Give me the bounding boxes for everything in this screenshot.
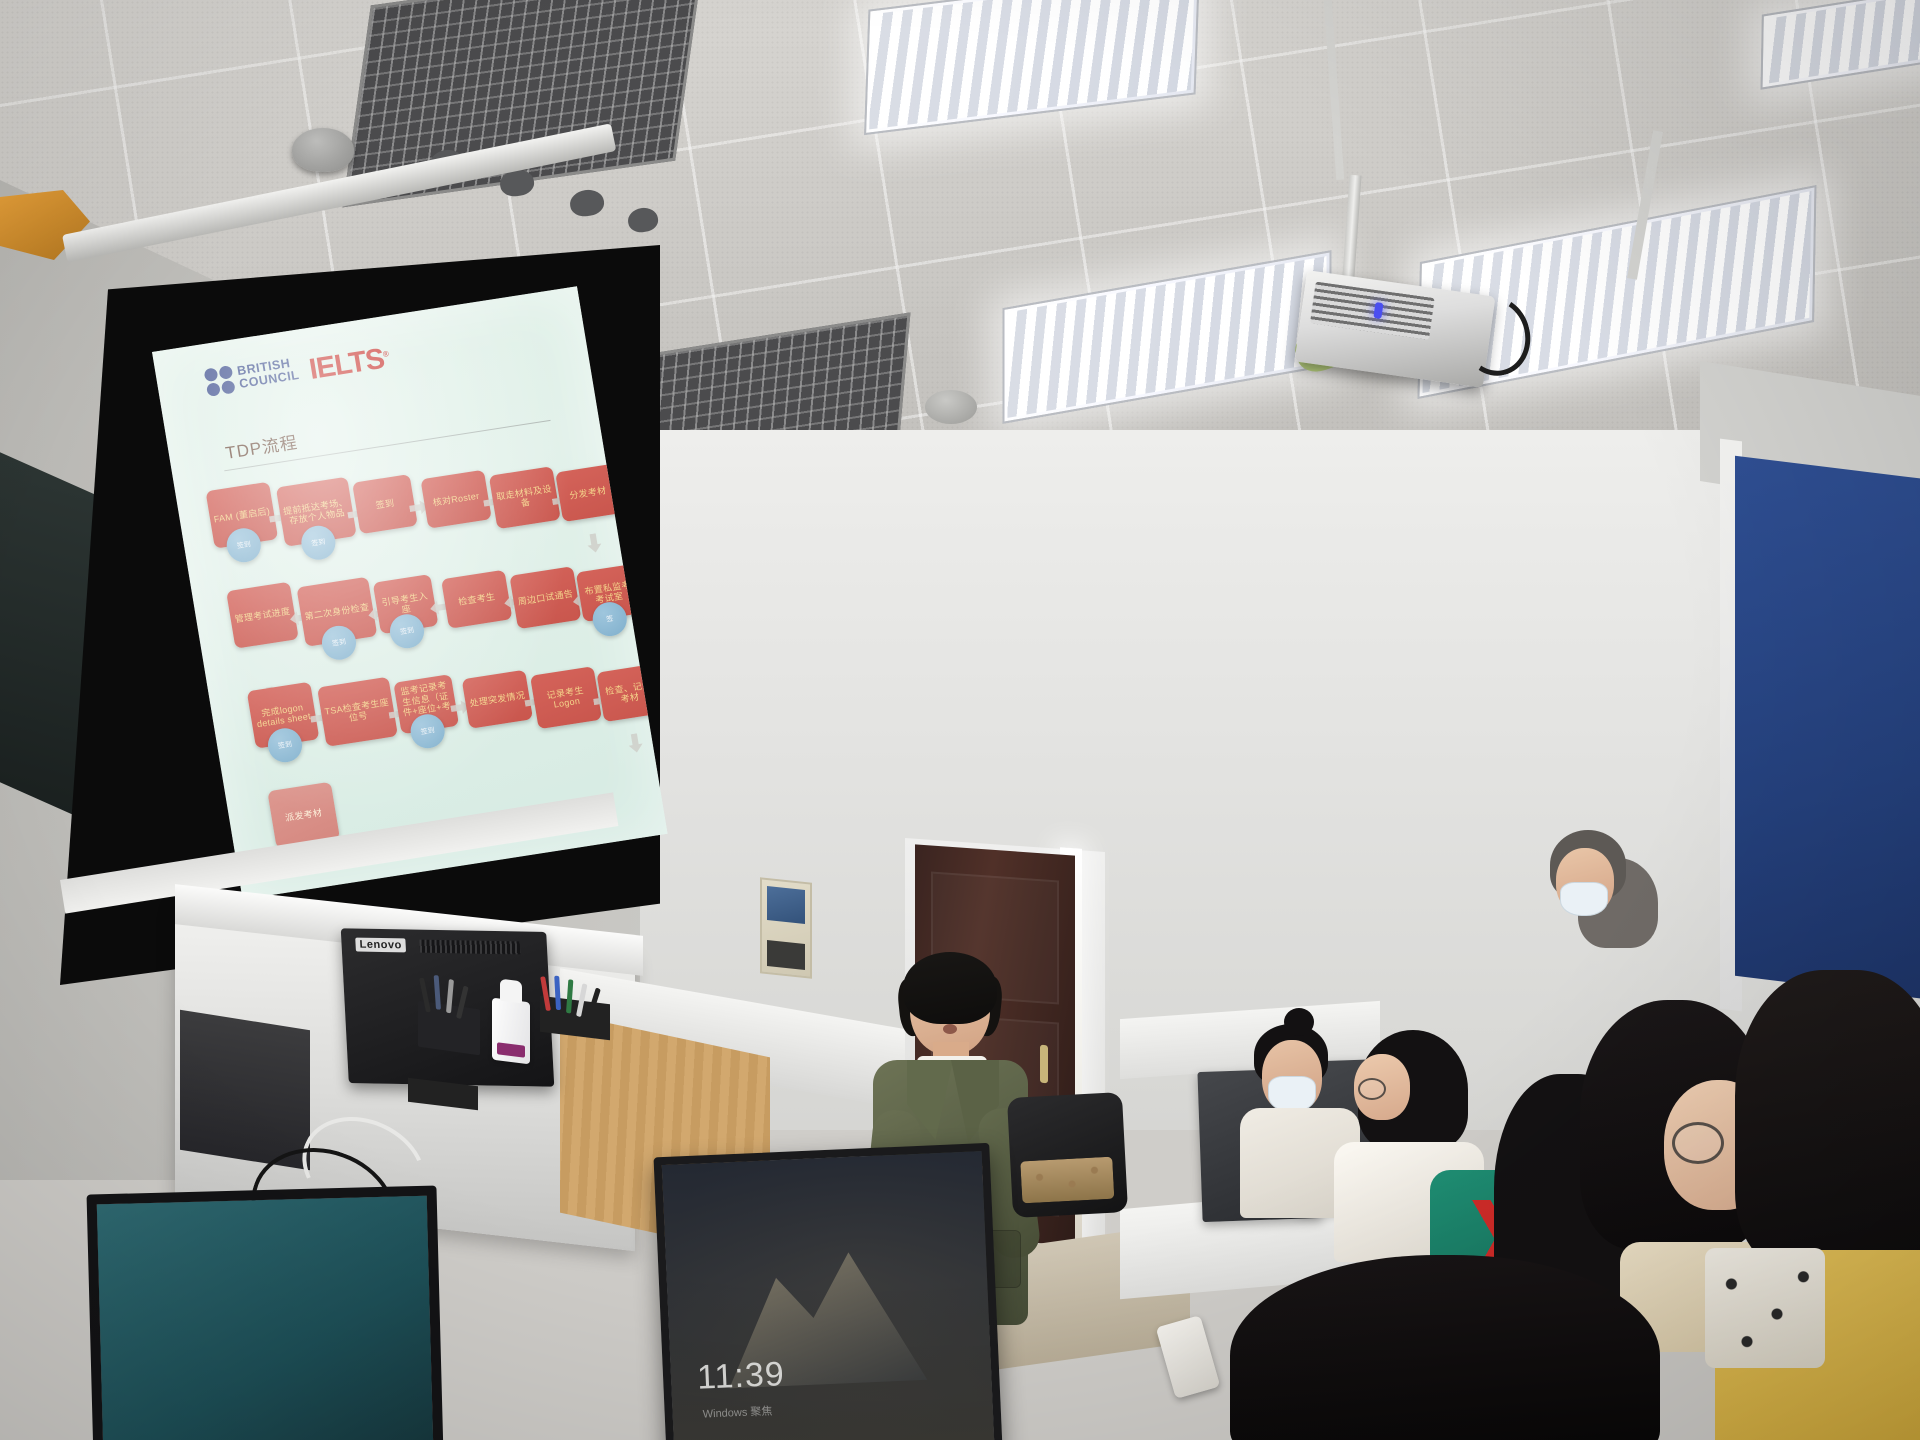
flow-box: 核对Roster — [420, 470, 491, 529]
right-wall-blue-board — [1735, 456, 1920, 1001]
monitor-vent — [419, 940, 520, 955]
flow-box: 管理考试进度 — [226, 582, 299, 649]
flow-box: 周边口试通告 — [509, 566, 581, 629]
flow-arrow-down — [586, 533, 603, 554]
british-council-dots-icon — [203, 365, 235, 397]
flow-box: 签到 — [352, 474, 418, 534]
smartphone[interactable] — [1156, 1315, 1221, 1399]
student-backpack — [1007, 1092, 1128, 1218]
wall-electrical-panel — [760, 877, 812, 978]
glasses-icon — [1358, 1078, 1386, 1100]
pen-holder — [418, 1001, 480, 1056]
lock-screen-clock: 11:39 — [696, 1355, 785, 1398]
lectern-side-panel — [180, 1010, 310, 1171]
flow-box: 处理突发情况 — [462, 670, 533, 729]
slide-title: TDP流程 — [223, 428, 299, 464]
presenter-hair — [903, 952, 997, 1024]
ielts-wordmark: IELTS® — [307, 342, 391, 387]
british-council-logo: BRITISH COUNCIL IELTS® — [203, 338, 391, 399]
flow-box: 记录考生Logon — [530, 666, 602, 729]
leopard-print-scarf — [1705, 1248, 1825, 1368]
flow-box: 检查考生 — [441, 570, 512, 629]
flow-box: 取走材料及设备 — [489, 466, 561, 529]
foreground-monitor-left[interactable] — [87, 1185, 444, 1440]
student-far-right-masked — [1560, 1030, 1680, 1190]
ceiling-speaker-icon — [925, 390, 977, 424]
lock-screen-monitor[interactable]: 11:39 Windows 聚焦 — [653, 1143, 1002, 1440]
smoke-detector-icon — [292, 128, 354, 172]
lenovo-logo: Lenovo — [355, 938, 406, 953]
student-back-row-masked — [1530, 830, 1650, 980]
hand-sanitizer-bottle — [492, 998, 530, 1065]
face-mask-icon — [1560, 882, 1608, 916]
lock-screen-caption: Windows 聚焦 — [702, 1403, 772, 1422]
flow-arrow-down — [627, 733, 644, 754]
flow-box: TSA检查考生座位号 — [317, 677, 398, 747]
student-foreground-back-of-head — [1230, 1255, 1660, 1440]
classroom-photo: BRITISH COUNCIL IELTS® TDP流程 FAM (董启后)签到… — [0, 0, 1920, 1440]
student-yellow-sweater — [1735, 1000, 1920, 1440]
